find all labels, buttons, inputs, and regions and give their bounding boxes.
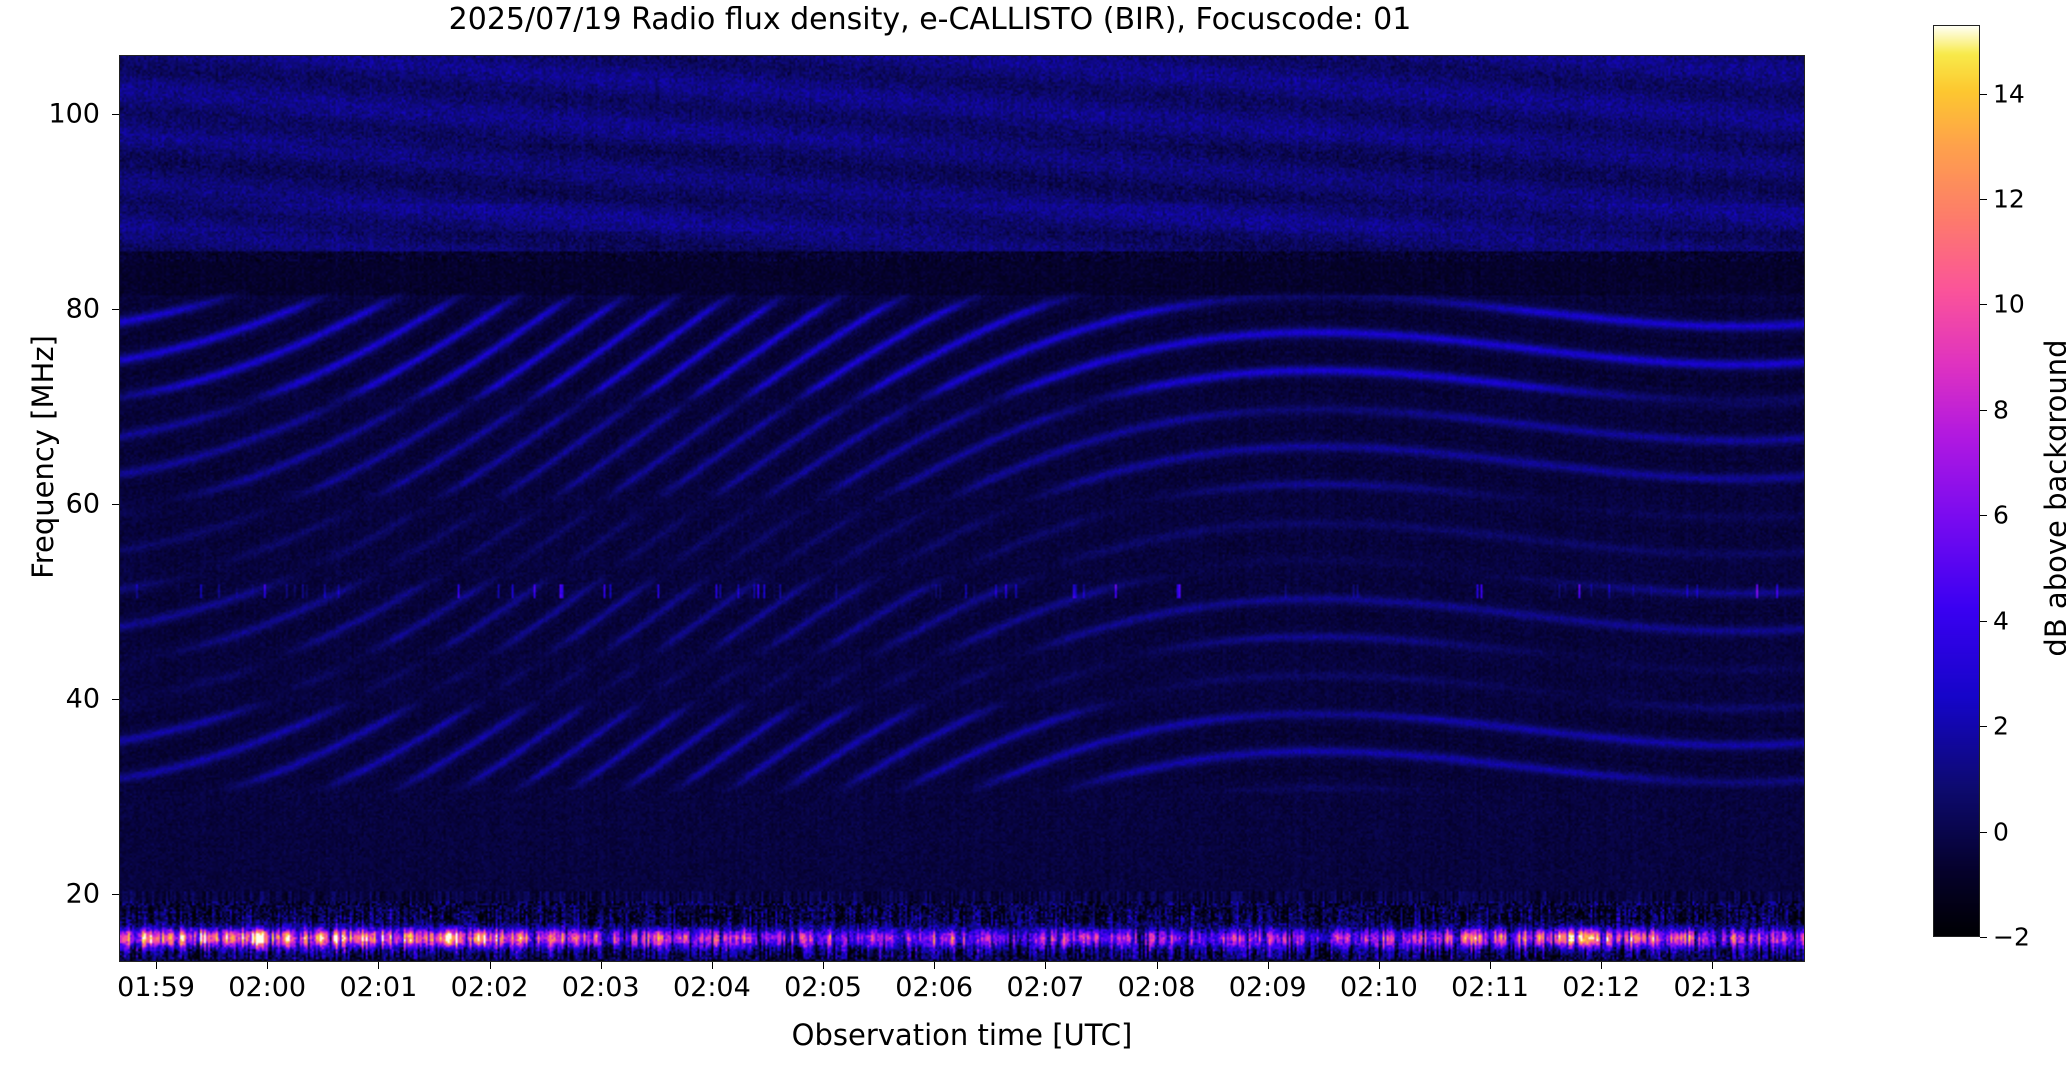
spectrogram-image — [120, 56, 1804, 961]
y-axis-tick — [112, 504, 119, 505]
x-axis-tick-label: 02:11 — [1451, 972, 1529, 1003]
colorbar-gradient — [1934, 26, 1979, 936]
x-axis-tick — [378, 962, 379, 969]
x-axis-tick — [1601, 962, 1602, 969]
x-axis-tick — [490, 962, 491, 969]
y-axis-tick — [112, 114, 119, 115]
y-axis-tick — [112, 309, 119, 310]
x-axis-tick-label: 02:12 — [1562, 972, 1640, 1003]
x-axis-tick-label: 02:04 — [673, 972, 751, 1003]
x-axis-tick — [934, 962, 935, 969]
x-axis-tick — [823, 962, 824, 969]
colorbar-tick-label: 6 — [1993, 501, 2009, 530]
colorbar-tick — [1980, 304, 1987, 305]
colorbar-tick-label: −2 — [1993, 923, 2030, 952]
colorbar-title: dB above background — [2039, 148, 2066, 848]
x-axis-tick-label: 02:13 — [1673, 972, 1751, 1003]
colorbar-tick — [1980, 726, 1987, 727]
y-axis-tick-label: 80 — [0, 293, 100, 324]
y-axis-tick-label: 20 — [0, 878, 100, 909]
figure-title: 2025/07/19 Radio flux density, e-CALLIST… — [0, 2, 1860, 37]
colorbar-tick — [1980, 832, 1987, 833]
x-axis-tick-label: 02:01 — [339, 972, 417, 1003]
x-axis-tick — [1712, 962, 1713, 969]
x-axis-tick — [1045, 962, 1046, 969]
x-axis-tick-label: 02:02 — [451, 972, 529, 1003]
x-axis-tick — [1490, 962, 1491, 969]
colorbar-tick — [1980, 621, 1987, 622]
colorbar-tick-label: 2 — [1993, 712, 2009, 741]
y-axis-tick — [112, 699, 119, 700]
colorbar-tick — [1980, 199, 1987, 200]
colorbar-tick-label: 12 — [1993, 184, 2025, 213]
y-axis-tick-label: 40 — [0, 683, 100, 714]
x-axis-tick-label: 02:07 — [1006, 972, 1084, 1003]
y-axis-tick — [112, 894, 119, 895]
x-axis-tick-label: 02:00 — [228, 972, 306, 1003]
x-axis-tick — [1379, 962, 1380, 969]
x-axis-tick-label: 02:09 — [1229, 972, 1307, 1003]
x-axis-title: Observation time [UTC] — [119, 1018, 1805, 1052]
x-axis-tick-label: 02:10 — [1340, 972, 1418, 1003]
x-axis-tick — [601, 962, 602, 969]
colorbar-tick — [1980, 94, 1987, 95]
spectrogram-axes[interactable] — [119, 55, 1805, 962]
colorbar-tick-label: 10 — [1993, 290, 2025, 319]
x-axis-tick — [156, 962, 157, 969]
x-axis-tick-label: 02:05 — [784, 972, 862, 1003]
colorbar-tick — [1980, 515, 1987, 516]
x-axis-tick — [1268, 962, 1269, 969]
x-axis-tick — [1157, 962, 1158, 969]
x-axis-tick-label: 02:08 — [1118, 972, 1196, 1003]
colorbar-tick-label: 0 — [1993, 817, 2009, 846]
colorbar-tick — [1980, 937, 1987, 938]
x-axis-tick-label: 02:03 — [562, 972, 640, 1003]
colorbar-tick-label: 14 — [1993, 79, 2025, 108]
figure-canvas: 2025/07/19 Radio flux density, e-CALLIST… — [0, 0, 2066, 1067]
x-axis-tick-label: 02:06 — [895, 972, 973, 1003]
x-axis-tick — [712, 962, 713, 969]
colorbar-tick-label: 8 — [1993, 395, 2009, 424]
x-axis-tick-label: 01:59 — [117, 972, 195, 1003]
x-axis-tick — [267, 962, 268, 969]
colorbar-tick — [1980, 410, 1987, 411]
y-axis-tick-label: 60 — [0, 488, 100, 519]
y-axis-tick-label: 100 — [0, 98, 100, 129]
colorbar-tick-label: 4 — [1993, 606, 2009, 635]
colorbar[interactable] — [1933, 25, 1980, 937]
